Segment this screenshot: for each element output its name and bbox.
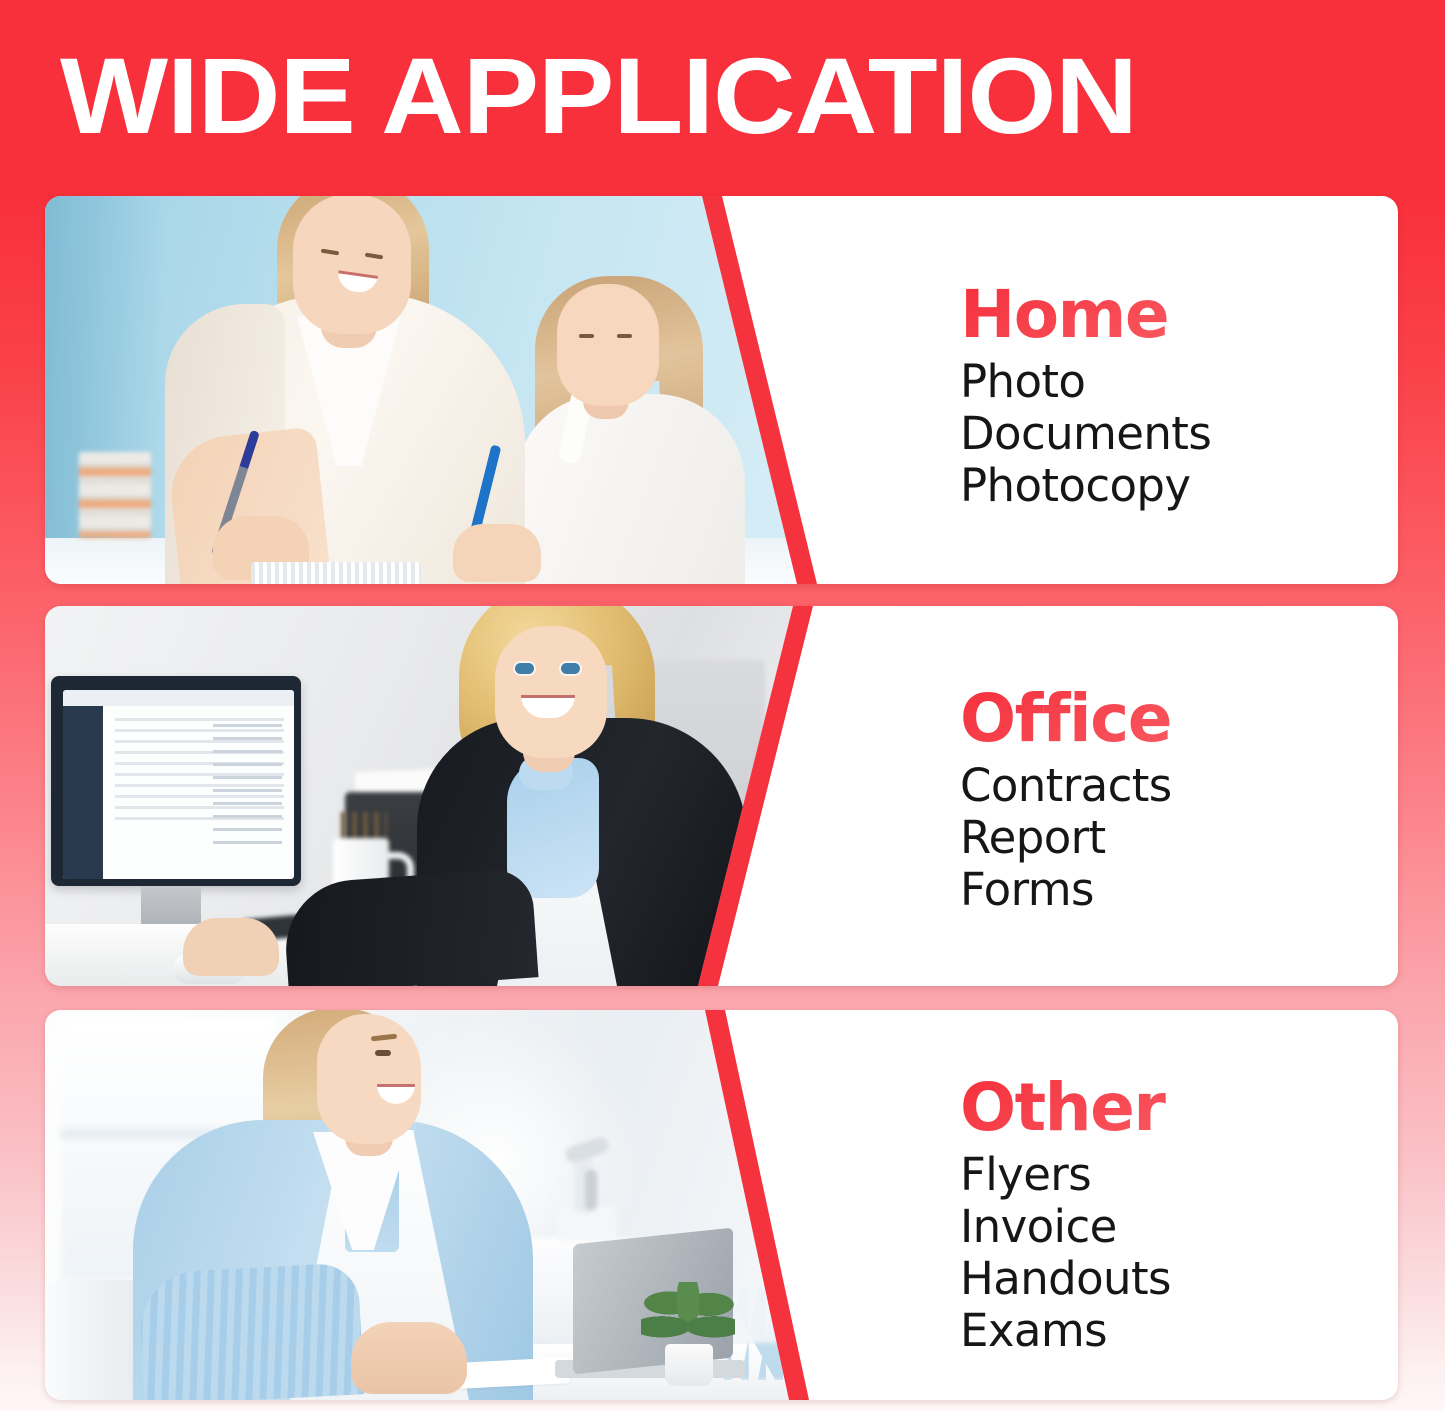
list-item: Report: [960, 812, 1390, 864]
card-title-office: Office: [960, 684, 1390, 754]
card-text-home: Home Photo Documents Photocopy: [960, 196, 1390, 584]
card-text-office: Office Contracts Report Forms: [960, 606, 1390, 986]
list-item: Flyers: [960, 1149, 1390, 1201]
list-item: Photocopy: [960, 460, 1390, 512]
card-list-office: Contracts Report Forms: [960, 760, 1390, 916]
header-band: WIDE APPLICATION: [0, 0, 1445, 176]
list-item: Documents: [960, 408, 1390, 460]
list-item: Exams: [960, 1305, 1390, 1357]
list-item: Forms: [960, 864, 1390, 916]
card-image-other: [45, 1010, 797, 1400]
card-title-other: Other: [960, 1073, 1390, 1143]
list-item: Handouts: [960, 1253, 1390, 1305]
card-text-other: Other Flyers Invoice Handouts Exams: [960, 1010, 1390, 1400]
card-title-home: Home: [960, 280, 1390, 350]
application-card-home: Home Photo Documents Photocopy: [45, 196, 1398, 584]
application-card-other: Other Flyers Invoice Handouts Exams: [45, 1010, 1398, 1400]
list-item: Contracts: [960, 760, 1390, 812]
card-list-home: Photo Documents Photocopy: [960, 356, 1390, 512]
page-title: WIDE APPLICATION: [60, 40, 1137, 152]
list-item: Invoice: [960, 1201, 1390, 1253]
list-item: Photo: [960, 356, 1390, 408]
application-card-office: Office Contracts Report Forms: [45, 606, 1398, 986]
card-list-other: Flyers Invoice Handouts Exams: [960, 1149, 1390, 1357]
card-image-home: [45, 196, 797, 584]
wide-application-poster: WIDE APPLICATION: [0, 0, 1445, 1411]
card-image-office: [45, 606, 797, 986]
